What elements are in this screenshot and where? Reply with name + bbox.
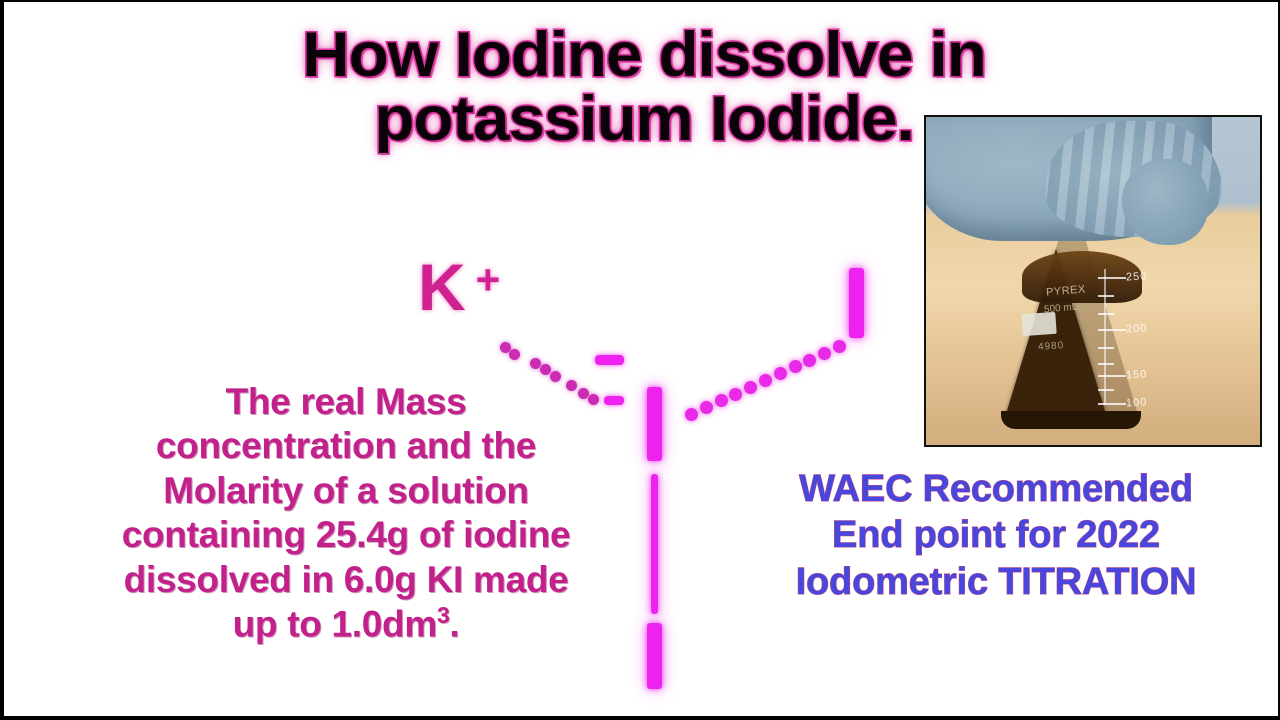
glove-thumb [1122, 159, 1208, 245]
endpoint-line-1: WAEC Recommended [726, 466, 1266, 512]
iodine-bar-top-segment [647, 387, 662, 461]
question-line-6: up to 1.0dm3. [56, 602, 636, 647]
question-line-5: dissolved in 6.0g KI made [56, 558, 636, 602]
bond-dot [700, 401, 713, 414]
graduation-tick-minor-2 [1098, 313, 1114, 315]
bond-dot [833, 340, 846, 353]
endpoint-line-3: Iodometric TITRATION [726, 559, 1266, 605]
potassium-symbol: K [418, 250, 468, 324]
bond-dash-dot [530, 358, 541, 369]
question-line-6-text: up to 1.0dm [233, 603, 437, 644]
potassium-cation-label: K+ [418, 254, 502, 320]
bond-dot [715, 394, 728, 407]
negative-charge-dash-upper [595, 355, 624, 365]
graduation-tick-minor-5 [1098, 389, 1114, 391]
endpoint-caption-block: WAEC Recommended End point for 2022 Iodo… [726, 466, 1266, 605]
graduation-tick-250 [1098, 277, 1126, 279]
bond-dot [729, 388, 742, 401]
iodine-bar-middle-segment [651, 474, 658, 614]
question-line-1: The real Mass [56, 380, 636, 424]
volume-exponent: 3 [437, 602, 449, 628]
graduation-tick-minor-4 [1098, 363, 1114, 365]
bond-dot [803, 354, 816, 367]
graduation-tick-minor-1 [1098, 295, 1114, 297]
bond-dot [685, 408, 698, 421]
graduation-tick-minor-3 [1098, 347, 1114, 349]
video-thumbnail-canvas: How Iodine dissolve in potassium Iodide.… [0, 0, 1280, 720]
graduation-label-200: 200 [1126, 322, 1148, 335]
dotted-bond-to-right-iodine [685, 338, 841, 414]
flask-code-label: 4980 [1038, 340, 1065, 353]
graduation-tick-150 [1098, 375, 1126, 377]
question-line-3: Molarity of a solution [56, 469, 636, 513]
graduation-label-250: 250 [1126, 270, 1148, 283]
iodine-bar-right [849, 268, 864, 338]
positive-charge-icon: + [476, 256, 503, 303]
titration-photo: 250 200 150 100 PYREX 500 mL 4980 [924, 115, 1262, 447]
endpoint-line-2: End point for 2022 [726, 512, 1266, 558]
question-line-4: containing 25.4g of iodine [56, 513, 636, 557]
question-line-2: concentration and the [56, 424, 636, 468]
flask-base-shadow [1001, 411, 1141, 429]
bond-dash-dot [500, 342, 511, 353]
bond-dash-dot [540, 364, 551, 375]
graduation-rail [1104, 269, 1106, 405]
graduation-label-150: 150 [1126, 368, 1148, 381]
bond-dash-dot [509, 349, 520, 360]
title-line-1: How Iodine dissolve in [0, 26, 1280, 86]
graduation-label-100: 100 [1126, 396, 1148, 409]
bond-dot [789, 360, 802, 373]
flask-paper-label [1021, 312, 1056, 336]
question-period: . [449, 603, 459, 644]
graduation-tick-200 [1098, 329, 1126, 331]
graduation-tick-100 [1098, 403, 1126, 405]
bond-dot [774, 367, 787, 380]
bond-dot [759, 374, 772, 387]
question-text-block: The real Mass concentration and the Mola… [56, 380, 636, 647]
bond-dot [818, 347, 831, 360]
bond-dot [744, 381, 757, 394]
iodine-bar-bottom-segment [647, 623, 662, 689]
